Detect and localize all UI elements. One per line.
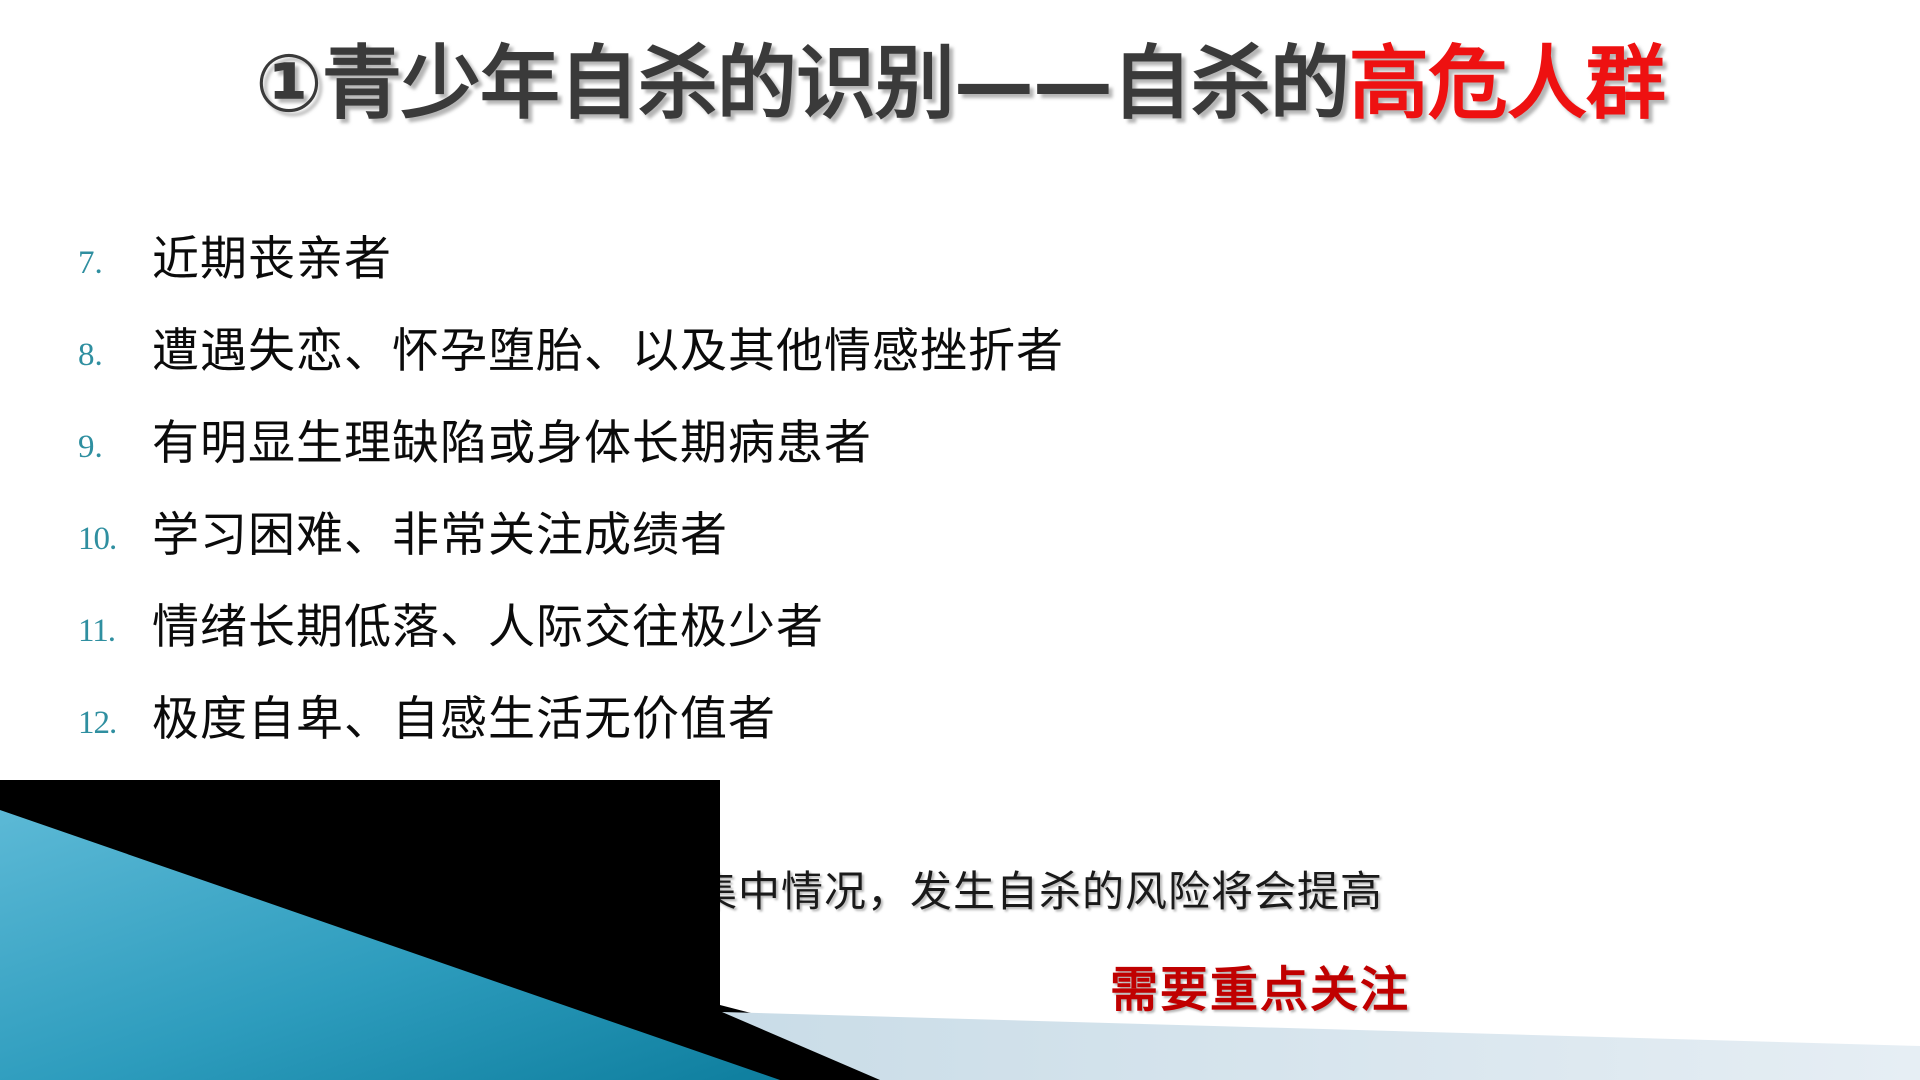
decoration-pale-band	[722, 1012, 1920, 1080]
slide-canvas: ①青少年自杀的识别——自杀的高危人群 7. 近期丧亲者 8. 遭遇失恋、怀孕堕胎…	[0, 0, 1920, 1080]
list-item: 8. 遭遇失恋、怀孕堕胎、以及其他情感挫折者	[78, 328, 1578, 420]
page-title-red-part: 高危人群	[1349, 37, 1665, 130]
page-title-dark-part: ①青少年自杀的识别——自杀的	[255, 37, 1349, 130]
list-item-number: 8.	[78, 339, 152, 372]
list-item-label: 极度自卑、自感生活无价值者	[152, 696, 776, 743]
list-item: 7. 近期丧亲者	[78, 236, 1578, 328]
focus-line: 需要重点关注	[0, 950, 1920, 1020]
list-item: 9. 有明显生理缺陷或身体长期病患者	[78, 420, 1578, 512]
warning-body: 如果一个人身上同时出现集中情况，发生自杀的风险将会提高	[222, 870, 1383, 916]
list-item-number: 9.	[78, 431, 152, 464]
risk-group-list: 7. 近期丧亲者 8. 遭遇失恋、怀孕堕胎、以及其他情感挫折者 9. 有明显生理…	[78, 236, 1578, 788]
list-item-label: 遭遇失恋、怀孕堕胎、以及其他情感挫折者	[152, 328, 1064, 375]
page-title: ①青少年自杀的识别——自杀的高危人群	[0, 38, 1920, 130]
warning-line: 警示：如果一个人身上同时出现集中情况，发生自杀的风险将会提高	[74, 855, 1383, 919]
list-item-label: 学习困难、非常关注成绩者	[152, 512, 728, 559]
list-item: 11. 情绪长期低落、人际交往极少者	[78, 604, 1578, 696]
decoration-black-wedge	[0, 780, 1000, 1080]
list-item-number: 11.	[78, 615, 152, 648]
list-item-label: 近期丧亲者	[152, 236, 392, 283]
decoration-teal-triangle	[0, 810, 780, 1080]
list-item-number: 10.	[78, 523, 152, 556]
list-item: 10. 学习困难、非常关注成绩者	[78, 512, 1578, 604]
list-item-label: 情绪长期低落、人际交往极少者	[152, 604, 824, 651]
list-item-number: 7.	[78, 247, 152, 280]
list-item-label: 有明显生理缺陷或身体长期病患者	[152, 420, 872, 467]
list-item: 12. 极度自卑、自感生活无价值者	[78, 696, 1578, 788]
list-item-number: 12.	[78, 707, 152, 740]
focus-text: 需要重点关注	[1110, 964, 1410, 1017]
warning-label: 警示：	[74, 866, 206, 917]
